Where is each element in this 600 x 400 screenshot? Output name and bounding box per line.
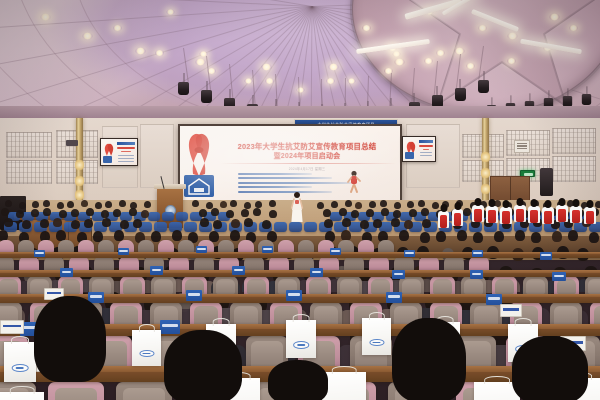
audience-head: [67, 201, 74, 208]
seat-placard: [196, 246, 207, 253]
conference-photo-scene: 大学生抗艾防艾宣传教育项目 2023年大学生抗艾防艾宣传教育项目总结 暨2024…: [0, 0, 600, 400]
monitor-banner-strip: [117, 142, 135, 145]
volunteer-red-vest: [586, 211, 595, 224]
seat-paper-sign: [0, 320, 24, 334]
audience-head: [59, 210, 67, 218]
seat-blue: [274, 222, 287, 232]
seat-cushion: [154, 279, 173, 295]
acoustic-panel: [6, 160, 52, 184]
audience-head: [84, 219, 93, 228]
gift-bag: [0, 392, 44, 400]
audience-area: [0, 196, 600, 400]
bag-handle: [515, 318, 532, 326]
audience-head: [226, 210, 234, 218]
audience-head: [381, 208, 389, 216]
seat-cushion: [474, 306, 498, 326]
seat-cushion: [433, 279, 452, 295]
projector: [66, 140, 78, 146]
seat-cushion: [251, 341, 282, 367]
audience-head: [463, 208, 471, 216]
monitor-body-line: [118, 155, 134, 156]
ceiling-downlight: [569, 25, 578, 31]
student-volunteer: [570, 199, 582, 225]
stage-light: [478, 80, 489, 93]
ceiling-downlight: [296, 87, 304, 92]
volunteer-head: [440, 204, 447, 212]
ceiling-downlight: [392, 51, 400, 56]
bag-logo: [369, 339, 384, 346]
audience-head: [43, 208, 51, 216]
audience-head: [418, 200, 425, 207]
volunteer-head: [517, 198, 524, 206]
seat-placard: [262, 246, 273, 253]
foreground-head: [268, 360, 328, 400]
slide-agenda-item: [238, 182, 351, 184]
monitor-title-line: [419, 145, 433, 147]
seat-paper-sign: [500, 304, 522, 317]
seat-cushion: [123, 279, 142, 295]
bag-handle: [10, 386, 35, 394]
audience-head: [391, 218, 400, 227]
volunteer-red-vest: [530, 210, 539, 223]
seat-placard: [386, 292, 402, 303]
seat-cushion: [216, 279, 235, 295]
foreground-head: [34, 296, 106, 382]
audience-head: [380, 200, 387, 207]
audience-head: [360, 220, 369, 229]
column-light: [481, 152, 490, 162]
ceiling-downlight: [436, 50, 445, 56]
audience-head: [244, 202, 251, 209]
bag-handle: [293, 314, 310, 322]
slide-agenda-item: [238, 173, 312, 175]
volunteer-red-vest: [454, 213, 462, 226]
audience-head: [589, 232, 599, 243]
audience-head: [31, 209, 39, 217]
audience-head: [230, 200, 237, 207]
audience-head: [393, 210, 401, 218]
seat-cushion: [309, 279, 328, 295]
slide-agenda-item: [238, 191, 332, 193]
seat-cushion: [557, 279, 576, 295]
audience-head: [253, 208, 261, 216]
column-light: [481, 168, 490, 178]
seat-cushion: [526, 279, 545, 295]
monitor-body-line: [420, 152, 432, 153]
volunteer-red-vest: [440, 215, 448, 228]
student-volunteer: [452, 202, 463, 226]
audience-head: [71, 220, 80, 229]
seat-cushion: [402, 279, 421, 295]
runner-figure-icon: [346, 170, 362, 196]
slide-title: 2023年大学生抗艾防艾宣传教育项目总结 暨2024年项目启动会: [216, 142, 398, 162]
audience-head: [373, 219, 382, 228]
audience-head: [345, 200, 352, 207]
audience-head: [473, 232, 483, 243]
wall-cornice-band: [0, 106, 600, 118]
audience-head: [95, 202, 102, 209]
seat-placard: [552, 272, 566, 281]
student-volunteer: [584, 200, 596, 226]
audience-head: [213, 220, 222, 229]
audience-head: [552, 231, 562, 242]
pa-speaker: [540, 168, 553, 196]
volunteer-red-vest: [488, 210, 497, 223]
student-volunteer: [500, 200, 512, 226]
seat-cushion: [0, 279, 18, 295]
side-monitor-right: [402, 136, 436, 162]
audience-head: [409, 209, 417, 217]
foreground-head: [512, 336, 588, 400]
monitor-title-line: [117, 147, 135, 149]
volunteer-head: [573, 199, 580, 207]
seat-cushion: [114, 306, 138, 326]
bag-handle: [484, 376, 510, 384]
audience-head: [422, 219, 431, 228]
volunteer-head: [475, 198, 482, 206]
audience-head: [86, 208, 94, 216]
audience-head: [331, 201, 338, 208]
audience-head: [113, 209, 121, 217]
seat-cushion: [464, 279, 483, 295]
audience-head: [151, 231, 161, 242]
audience-head: [200, 218, 209, 227]
audience-head: [369, 201, 376, 208]
acoustic-panel: [6, 132, 52, 158]
volunteer-red-vest: [572, 210, 581, 223]
sign-line: [517, 143, 527, 144]
seat-cushion: [588, 279, 600, 295]
desk-surface: [0, 270, 600, 273]
seat-placard: [330, 248, 341, 255]
bag-handle: [368, 312, 384, 320]
seat-placard: [310, 268, 323, 277]
ceiling: [0, 0, 600, 118]
volunteer-head: [489, 199, 496, 207]
monitor-body-line: [420, 155, 432, 156]
column-light: [481, 184, 490, 194]
monitor-body-line: [118, 158, 134, 159]
audience-head: [457, 230, 467, 241]
bag-logo: [293, 341, 309, 349]
foreground-head: [392, 318, 466, 400]
ceiling-downlight: [326, 78, 335, 84]
ceiling-downlight: [394, 58, 404, 65]
stage-light: [455, 88, 466, 101]
audience-head: [192, 200, 199, 207]
student-volunteer: [514, 198, 526, 224]
gift-bag: [322, 372, 366, 400]
seat-placard: [34, 250, 45, 257]
foreground-head: [164, 330, 242, 400]
side-monitor-left: [100, 138, 138, 166]
gift-bag: [4, 342, 36, 382]
audience-head: [420, 232, 430, 243]
seat-blue: [289, 222, 302, 232]
seat-placard: [540, 252, 552, 260]
podium-top: [154, 184, 186, 189]
seat-blue: [176, 212, 188, 221]
audience-head: [211, 208, 219, 216]
audience-head: [32, 201, 39, 208]
audience-head: [366, 209, 374, 217]
audience-head: [4, 218, 13, 227]
audience-head: [120, 220, 129, 229]
student-volunteer: [556, 198, 568, 224]
audience-head: [494, 231, 504, 242]
gift-bag: [132, 330, 161, 366]
volunteer-red-vest: [544, 211, 553, 224]
ceiling-downlight: [166, 9, 174, 14]
audience-head: [407, 201, 414, 208]
audience-seat: [48, 382, 104, 400]
seat-cushion: [594, 306, 600, 326]
volunteer-red-vest: [516, 209, 525, 222]
seat-placard: [60, 268, 73, 277]
audience-head: [172, 230, 182, 241]
audience-head: [269, 210, 277, 218]
bag-handle: [138, 324, 154, 332]
audience-head: [394, 202, 401, 209]
blue-house-logo: [103, 156, 112, 163]
audience-head: [324, 219, 333, 228]
gift-bag: [362, 318, 391, 355]
wall-notice-sign: [514, 140, 530, 153]
volunteer-head: [454, 202, 461, 210]
audience-head: [57, 202, 64, 209]
ceiling-downlight: [113, 25, 122, 31]
audience-head: [16, 210, 24, 218]
seat-placard: [472, 250, 483, 257]
seat-blue: [304, 222, 317, 232]
student-volunteer: [528, 199, 540, 225]
audience-head: [53, 218, 62, 227]
monitor-banner-strip: [419, 140, 433, 143]
column-light: [75, 176, 84, 186]
audience-head: [351, 210, 359, 218]
audience-head: [241, 209, 249, 217]
side-monitor-right-screen: [403, 137, 435, 161]
bag-handle: [332, 366, 357, 374]
bag-logo: [139, 350, 154, 357]
seat-placard: [404, 250, 415, 257]
slide-date: 2024年4月17日 星期三: [216, 166, 398, 171]
audience-head: [129, 208, 137, 216]
audience-head: [141, 210, 149, 218]
volunteer-red-vest: [502, 211, 511, 224]
audience-head: [102, 218, 111, 227]
audience-head: [355, 202, 362, 209]
bag-handle: [11, 336, 29, 344]
audience-head: [255, 201, 262, 208]
slide-agenda-item: [238, 186, 312, 188]
audience-head: [421, 208, 429, 216]
audience-head: [399, 230, 409, 241]
audience-head: [568, 230, 578, 241]
audience-head: [199, 209, 207, 217]
audience-head: [22, 220, 31, 229]
projection-screen: 2023年大学生抗艾防艾宣传教育项目总结 暨2024年项目启动会 2024年4月…: [180, 126, 400, 200]
seat-placard: [186, 290, 202, 301]
monitor-title-line: [423, 149, 429, 151]
seat-cushion: [247, 279, 266, 295]
audience-head: [40, 219, 49, 228]
audience-head: [269, 200, 276, 207]
seat-placard: [232, 266, 245, 275]
seat-placard: [470, 270, 483, 279]
audience-head: [1, 208, 9, 216]
sign-line: [517, 145, 527, 146]
wall-panel: [140, 124, 174, 188]
blue-house-logo: [405, 152, 414, 159]
audience-head: [220, 201, 227, 208]
audience-head: [317, 202, 324, 209]
volunteer-red-vest: [474, 209, 483, 222]
ceiling-downlight: [466, 63, 475, 69]
gift-bag: [286, 320, 316, 358]
house-logo-glyph: [187, 177, 211, 195]
student-volunteer: [542, 200, 554, 226]
seat-cushion: [495, 279, 514, 295]
ceiling-downlight: [245, 78, 253, 83]
seat-cushion: [554, 306, 578, 326]
ceiling-downlight: [362, 25, 371, 31]
audience-head: [231, 219, 240, 228]
audience-head: [5, 200, 12, 207]
volunteer-head: [559, 198, 566, 206]
blue-house-logo: [184, 175, 214, 197]
audience-head: [101, 210, 109, 218]
ceiling-downlight: [478, 25, 487, 31]
volunteer-head: [587, 200, 594, 208]
slide-title-line1: 2023年大学生抗艾防艾宣传教育项目总结: [216, 142, 398, 152]
slide-title-line2: 暨2024年项目启动会: [216, 152, 398, 162]
ceiling-downlight: [265, 78, 274, 84]
seat-cushion: [55, 388, 96, 400]
audience-head: [119, 200, 126, 207]
audience-head: [262, 220, 271, 229]
audience-head: [230, 230, 240, 241]
gold-column-left: [76, 118, 83, 204]
seat-placard: [160, 320, 180, 334]
audience-head: [105, 201, 112, 208]
audience-head: [244, 218, 253, 227]
seat-placard: [286, 290, 302, 301]
ceiling-downlight: [347, 78, 355, 83]
student-volunteer: [472, 198, 484, 224]
monitor-title-line: [121, 151, 131, 153]
audience-desk: [0, 252, 600, 258]
seat-cushion: [314, 306, 338, 326]
slide-agenda-item: [238, 177, 332, 179]
audience-head: [436, 231, 446, 242]
bag-handle: [213, 318, 230, 326]
column-light: [75, 160, 84, 170]
audience-head: [323, 209, 331, 217]
audience-head: [133, 219, 142, 228]
stage-light: [582, 94, 591, 105]
audience-head: [71, 209, 79, 217]
sign-line: [517, 148, 527, 149]
seat-placard: [392, 270, 405, 279]
volunteer-head: [503, 200, 510, 208]
side-monitor-left-screen: [101, 139, 137, 165]
red-ribbon-icon: [184, 130, 214, 178]
stage-light: [201, 90, 212, 103]
volunteer-red-vest: [558, 209, 567, 222]
audience-head: [342, 218, 351, 227]
ceiling-downlight: [424, 58, 433, 64]
audience-head: [339, 208, 347, 216]
audience-head: [404, 220, 413, 229]
stage-light: [178, 82, 189, 95]
seat-placard: [118, 248, 129, 255]
seat-blue: [148, 212, 160, 221]
audience-head: [531, 232, 541, 243]
desk-surface: [0, 252, 600, 254]
seat-placard: [150, 266, 163, 275]
seat-cushion: [340, 279, 359, 295]
volunteer-head: [545, 200, 552, 208]
ceiling-downlight: [155, 50, 164, 56]
audience-head: [81, 200, 88, 207]
gold-column-right: [482, 118, 489, 202]
audience-seat: [116, 382, 172, 400]
student-volunteer: [486, 199, 498, 225]
acoustic-panel: [552, 156, 596, 182]
audience-head: [19, 202, 26, 209]
audience-head: [144, 201, 151, 208]
seat-cushion: [234, 306, 258, 326]
acoustic-panel: [552, 128, 596, 154]
seat-blue: [184, 222, 197, 232]
seat-cushion: [61, 279, 80, 295]
audience-head: [515, 230, 525, 241]
seat-blue: [162, 212, 174, 221]
slide-divider: [220, 163, 396, 164]
volunteer-head: [531, 199, 538, 207]
audience-head: [43, 200, 50, 207]
monitor-body-line: [118, 161, 134, 162]
audience-desk: [0, 270, 600, 277]
seat-cushion: [123, 388, 164, 400]
ceiling-downlight: [507, 58, 516, 64]
bag-logo: [12, 364, 29, 372]
student-volunteer: [438, 204, 449, 228]
